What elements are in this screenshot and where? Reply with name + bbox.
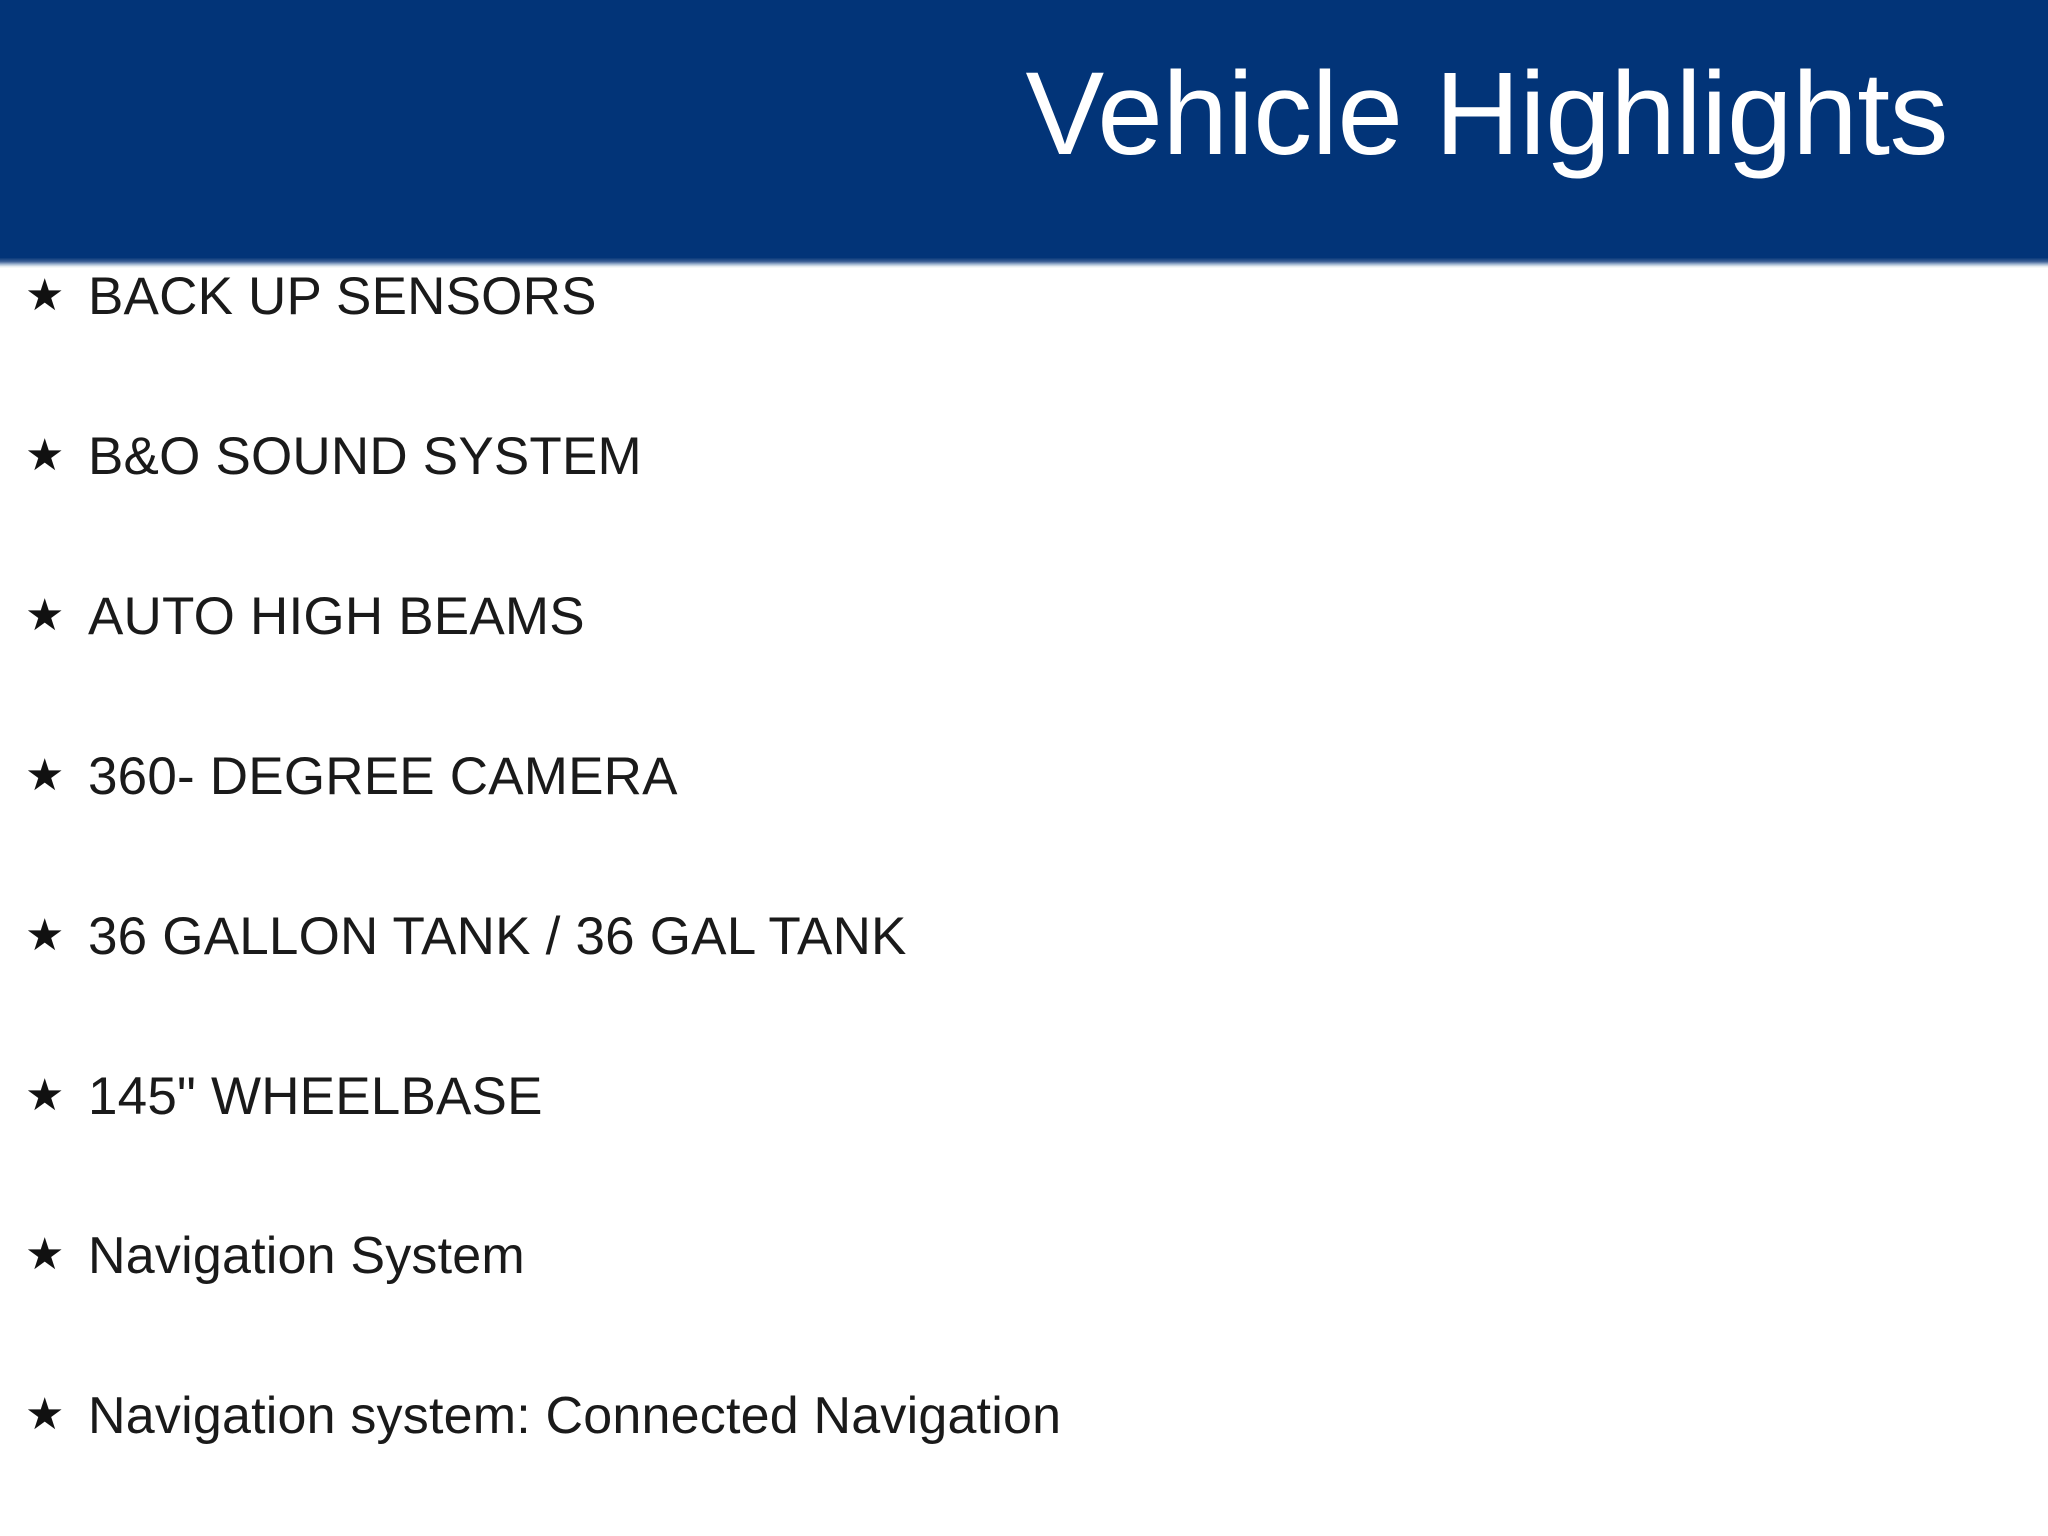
star-bullet-icon: ★: [25, 274, 88, 318]
highlight-label: 360- DEGREE CAMERA: [88, 748, 678, 806]
highlight-label: 36 GALLON TANK / 36 GAL TANK: [88, 908, 907, 966]
star-bullet-icon: ★: [25, 1074, 88, 1118]
star-bullet-icon: ★: [25, 1393, 88, 1437]
list-item: ★ B&O SOUND SYSTEM: [0, 428, 2048, 588]
list-item: ★ 360- DEGREE CAMERA: [0, 748, 2048, 908]
list-item: ★ 36 GALLON TANK / 36 GAL TANK: [0, 908, 2048, 1068]
list-item: ★ BACK UP SENSORS: [0, 268, 2048, 428]
vehicle-highlights-slide: Vehicle Highlights ★ BACK UP SENSORS ★ B…: [0, 0, 2048, 1536]
highlight-label: BACK UP SENSORS: [88, 268, 597, 326]
star-bullet-icon: ★: [25, 434, 88, 478]
highlight-label: 145" WHEELBASE: [88, 1068, 543, 1126]
vehicle-highlights-list: ★ BACK UP SENSORS ★ B&O SOUND SYSTEM ★ A…: [0, 268, 2048, 1536]
header-banner: Vehicle Highlights: [0, 0, 2048, 258]
highlight-label: B&O SOUND SYSTEM: [88, 428, 642, 486]
star-bullet-icon: ★: [25, 1233, 88, 1277]
page-title: Vehicle Highlights: [1026, 53, 1948, 177]
star-bullet-icon: ★: [25, 754, 88, 798]
star-bullet-icon: ★: [25, 914, 88, 958]
list-item: ★ Navigation system: Connected Navigatio…: [0, 1388, 2048, 1536]
list-item: ★ Navigation System: [0, 1228, 2048, 1388]
star-bullet-icon: ★: [25, 594, 88, 638]
list-item: ★ AUTO HIGH BEAMS: [0, 588, 2048, 748]
list-item: ★ 145" WHEELBASE: [0, 1068, 2048, 1228]
highlight-label: AUTO HIGH BEAMS: [88, 588, 585, 646]
highlight-label: Navigation system: Connected Navigation: [88, 1388, 1061, 1445]
highlight-label: Navigation System: [88, 1228, 525, 1285]
